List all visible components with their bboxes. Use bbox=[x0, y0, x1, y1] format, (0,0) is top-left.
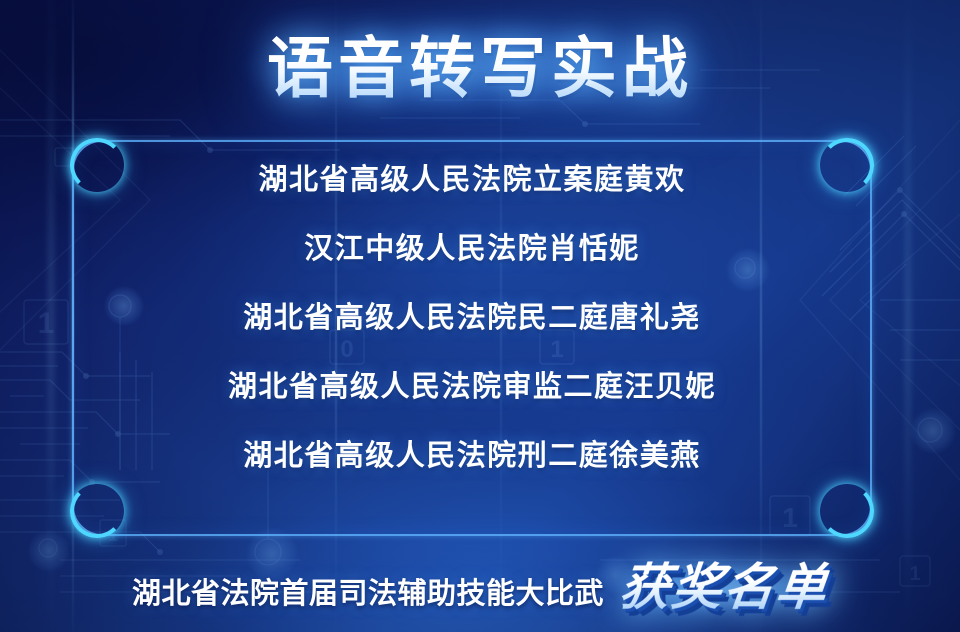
poster-title-area: 语音转写实战 bbox=[0, 16, 960, 120]
banner-title: 获奖名单 bbox=[617, 554, 832, 620]
list-item: 湖北省高级人民法院审监二庭汪贝妮 bbox=[228, 369, 716, 405]
frame-corner-bottom-right-icon bbox=[820, 484, 874, 538]
winner-list: 湖北省高级人民法院立案庭黄欢 汉江中级人民法院肖恬妮 湖北省高级人民法院民二庭唐… bbox=[72, 162, 872, 474]
frame-corner-bottom-left-icon bbox=[70, 484, 124, 538]
list-item: 湖北省高级人民法院刑二庭徐美燕 bbox=[243, 438, 701, 474]
bokeh-dot bbox=[910, 408, 956, 454]
page-title: 语音转写实战 bbox=[267, 16, 693, 120]
list-item: 汉江中级人民法院肖恬妮 bbox=[304, 231, 640, 267]
banner-title-area: 获奖名单 bbox=[620, 554, 828, 620]
bottom-banner: 湖北省法院首届司法辅助技能大比武 获奖名单 bbox=[0, 554, 960, 620]
list-item: 湖北省高级人民法院立案庭黄欢 bbox=[258, 162, 685, 198]
winner-list-frame: 湖北省高级人民法院立案庭黄欢 汉江中级人民法院肖恬妮 湖北省高级人民法院民二庭唐… bbox=[72, 140, 872, 536]
banner-subtitle: 湖北省法院首届司法辅助技能大比武 bbox=[132, 570, 604, 612]
svg-text:1: 1 bbox=[38, 307, 55, 340]
poster-root: 1 1 0 1 1 1 语音转写实战 湖北省高级人民法 bbox=[0, 0, 960, 632]
list-item: 湖北省高级人民法院民二庭唐礼尧 bbox=[243, 300, 701, 336]
